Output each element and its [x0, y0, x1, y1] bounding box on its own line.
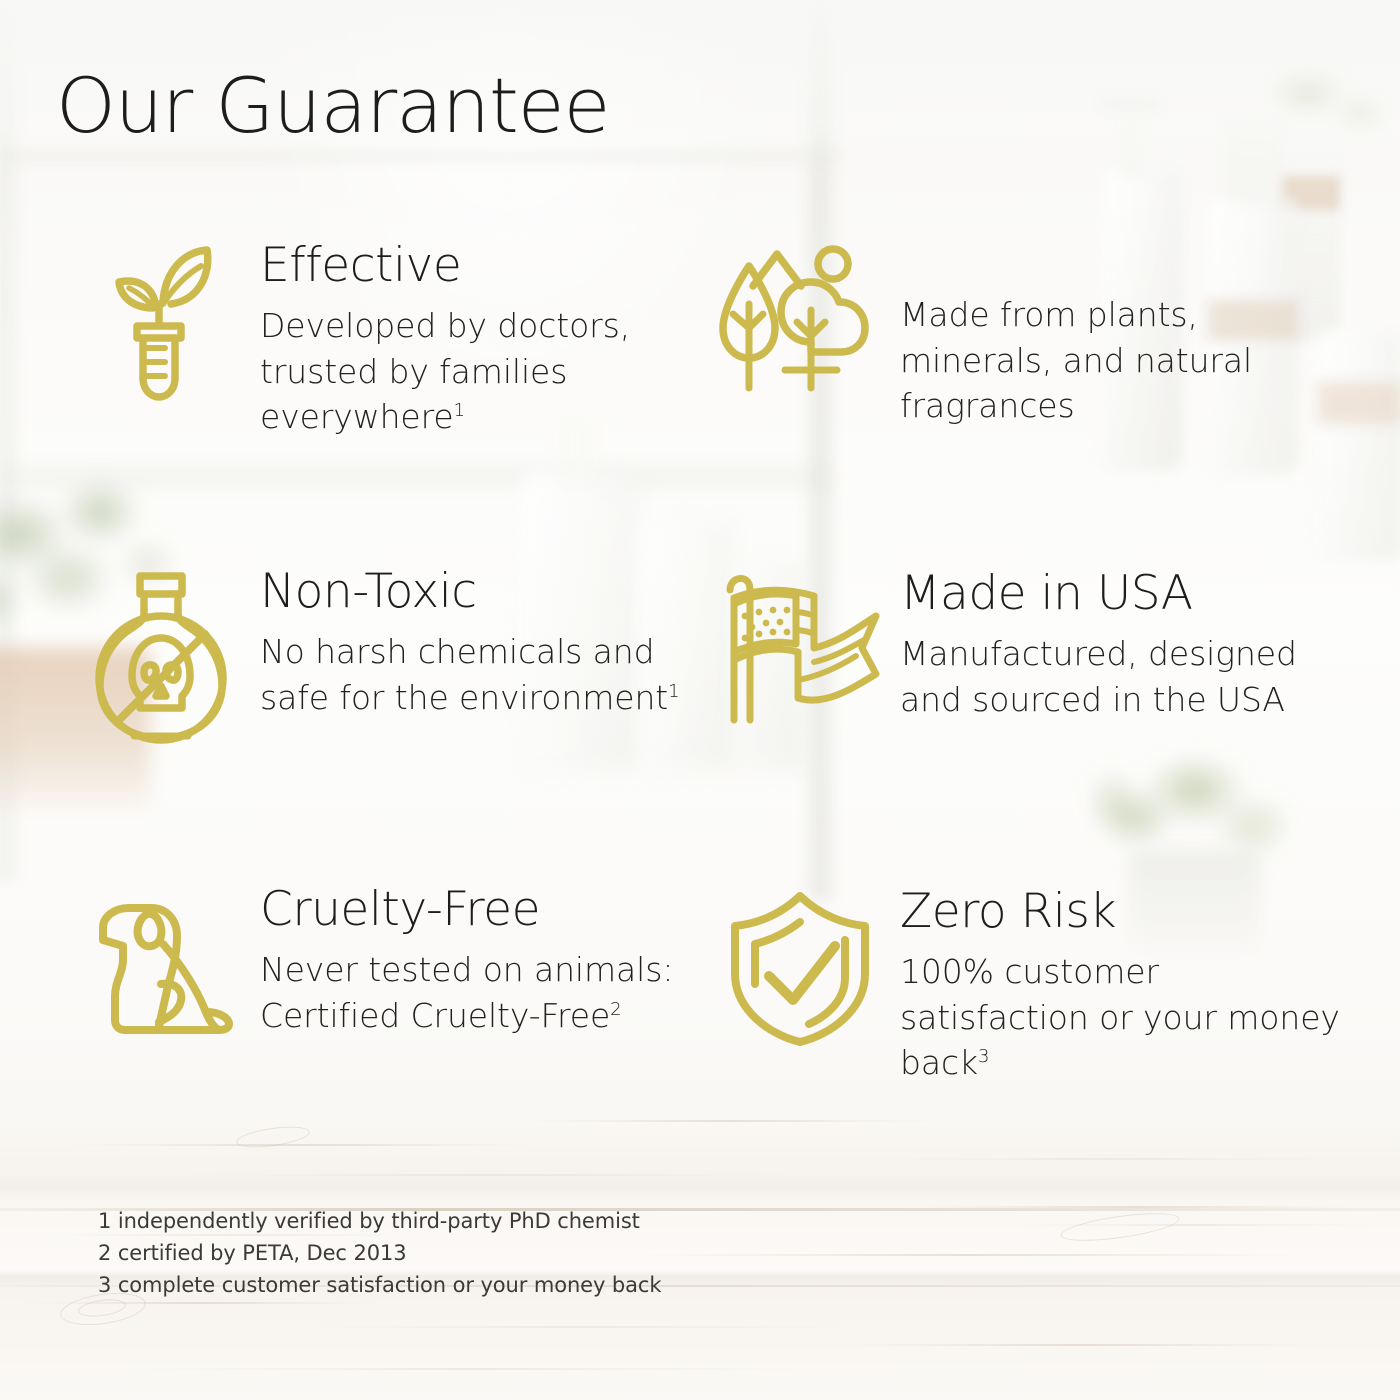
test-tube-plant-icon [98, 242, 228, 402]
poison-bottle-skull-prohibited-icon [86, 568, 236, 748]
feature-cruelty-free: Cruelty-Free Never tested on animals: Ce… [0, 874, 700, 1124]
feature-heading: Made in USA [900, 570, 1350, 617]
usa-flag-icon [714, 570, 894, 730]
footnote-1: 1 independently verified by third-party … [98, 1206, 661, 1238]
page-title: Our Guarantee [56, 66, 609, 146]
feature-body: 100% customer satisfaction or your money… [900, 949, 1340, 1086]
feature-heading: Effective [260, 242, 680, 289]
feature-zero-risk-text: Zero Risk 100% customer satisfaction or … [900, 888, 1340, 1086]
features-grid: Effective Developed by doctors, trusted … [0, 214, 1400, 1124]
sitting-dog-icon [86, 886, 246, 1046]
feature-body: Made from plants, minerals, and natural … [900, 292, 1330, 429]
feature-body: No harsh chemicals and safe for the envi… [260, 629, 680, 720]
shield-check-icon [720, 888, 880, 1048]
feature-effective: Effective Developed by doctors, trusted … [0, 214, 700, 544]
feature-plant-based-text: Made from plants, minerals, and natural … [900, 292, 1330, 429]
footnote-3: 3 complete customer satisfaction or your… [98, 1270, 661, 1302]
guarantee-infographic: Our Guarantee [0, 0, 1400, 1400]
feature-heading: Non-Toxic [260, 568, 680, 615]
feature-cruelty-free-text: Cruelty-Free Never tested on animals: Ce… [260, 886, 680, 1038]
footnotes: 1 independently verified by third-party … [98, 1206, 661, 1302]
feature-body: Developed by doctors, trusted by familie… [260, 303, 680, 440]
trees-nature-icon [710, 242, 880, 392]
feature-plant-based: Made from plants, minerals, and natural … [700, 214, 1400, 544]
feature-body: Never tested on animals: Certified Cruel… [260, 947, 680, 1038]
feature-made-in-usa: Made in USA Manufactured, designed and s… [700, 544, 1400, 874]
feature-zero-risk: Zero Risk 100% customer satisfaction or … [700, 874, 1400, 1124]
feature-heading: Zero Risk [900, 888, 1340, 935]
feature-non-toxic: Non-Toxic No harsh chemicals and safe fo… [0, 544, 700, 874]
feature-effective-text: Effective Developed by doctors, trusted … [260, 242, 680, 440]
feature-made-in-usa-text: Made in USA Manufactured, designed and s… [900, 570, 1350, 722]
feature-heading: Cruelty-Free [260, 886, 680, 933]
footnote-2: 2 certified by PETA, Dec 2013 [98, 1238, 661, 1270]
feature-non-toxic-text: Non-Toxic No harsh chemicals and safe fo… [260, 568, 680, 720]
feature-body: Manufactured, designed and sourced in th… [900, 631, 1350, 722]
